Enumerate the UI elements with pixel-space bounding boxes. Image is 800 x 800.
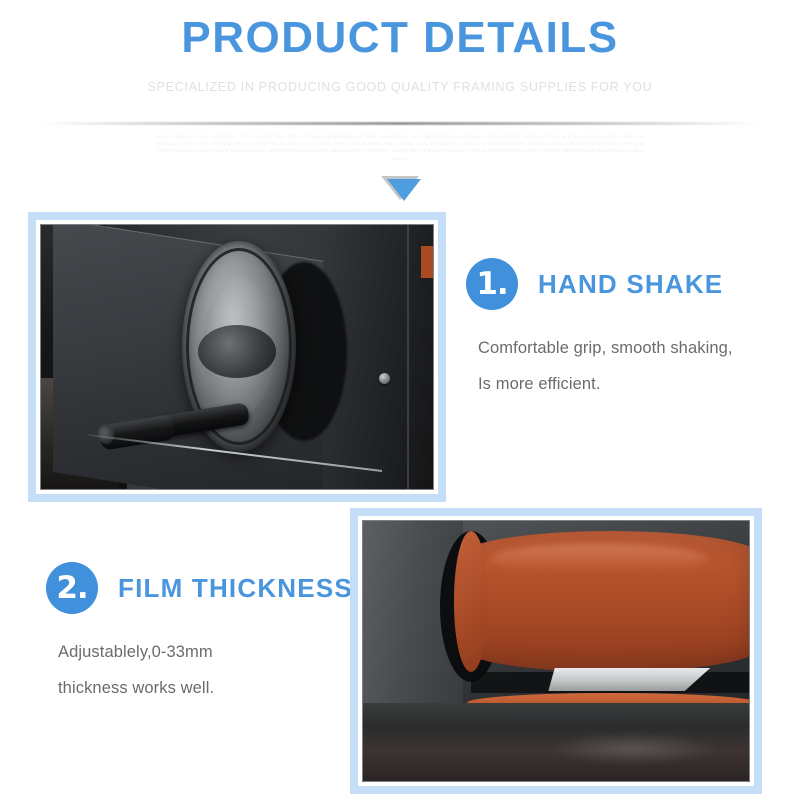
feature-image-mat-1 bbox=[36, 220, 438, 494]
feature-image-frame-1 bbox=[28, 212, 446, 502]
page-title: PRODUCT DETAILS bbox=[0, 12, 800, 64]
company-description: Yiwu Yinderg decorative materials Co., L… bbox=[155, 133, 647, 162]
feature-description-1-line-1: Comfortable grip, smooth shaking, bbox=[478, 330, 786, 366]
feature-number-label-2: 2. bbox=[46, 562, 98, 614]
triangle-down-icon bbox=[381, 176, 425, 206]
feature-description-2: Adjustablely,0-33mm thickness works well… bbox=[58, 634, 366, 706]
feature-description-1: Comfortable grip, smooth shaking, Is mor… bbox=[478, 330, 786, 402]
feature-block-2: 2. FILM THICKNESS Adjustablely,0-33mm th… bbox=[46, 562, 366, 706]
feature-title-2: FILM THICKNESS bbox=[118, 572, 353, 604]
page-header: PRODUCT DETAILS SPECIALIZED IN PRODUCING… bbox=[0, 0, 800, 128]
header-divider bbox=[40, 122, 760, 125]
feature-block-1: 1. HAND SHAKE Comfortable grip, smooth s… bbox=[466, 258, 786, 402]
feature-heading-1: 1. HAND SHAKE bbox=[466, 258, 786, 310]
feature-description-2-line-1: Adjustablely,0-33mm bbox=[58, 634, 366, 670]
feature-number-label-1: 1. bbox=[466, 258, 518, 310]
feature-heading-2: 2. FILM THICKNESS bbox=[46, 562, 366, 614]
feature-image-mat-2 bbox=[358, 516, 754, 786]
feature-title-1: HAND SHAKE bbox=[538, 268, 723, 300]
feature-image-frame-2 bbox=[350, 508, 762, 794]
orange-laminating-rollers-photo bbox=[362, 520, 750, 782]
triangle-down-glyph bbox=[387, 179, 421, 201]
feature-description-1-line-2: Is more efficient. bbox=[478, 366, 786, 402]
page-subtitle: SPECIALIZED IN PRODUCING GOOD QUALITY FR… bbox=[0, 78, 800, 96]
hand-crank-wheel-photo bbox=[40, 224, 434, 490]
feature-description-2-line-2: thickness works well. bbox=[58, 670, 366, 706]
